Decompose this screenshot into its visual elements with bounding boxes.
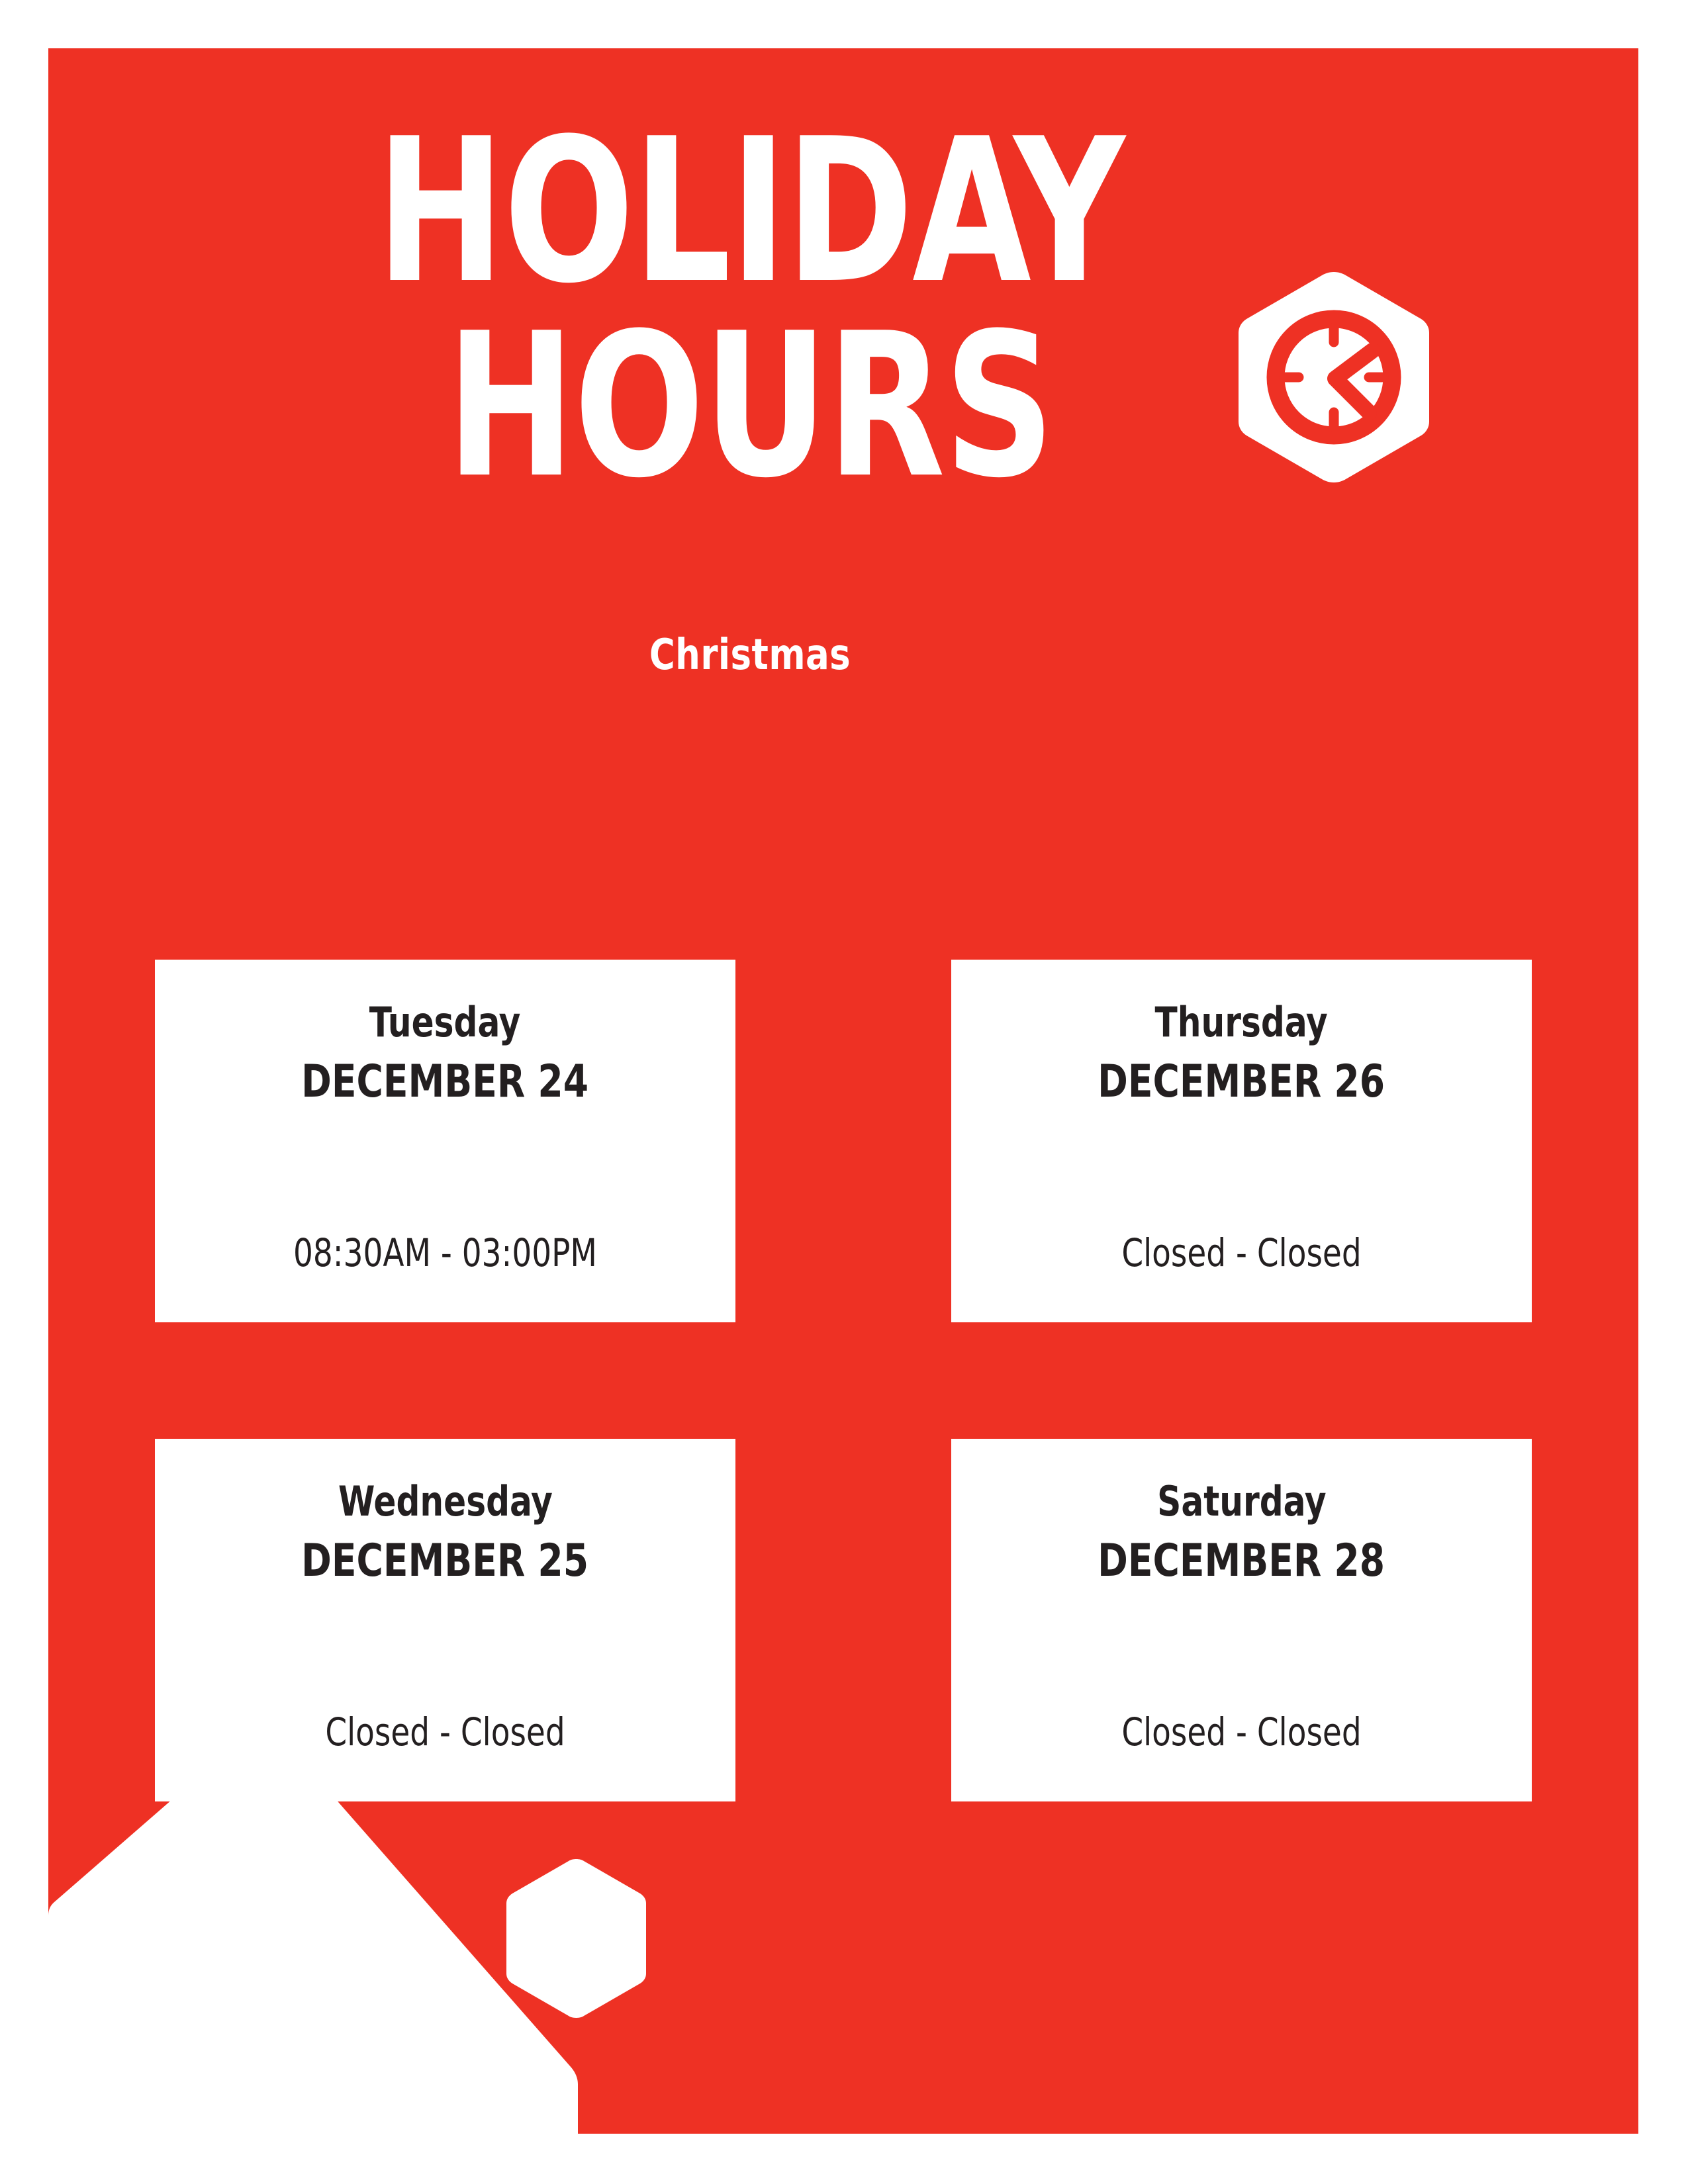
page-title-line-1: HOLIDAY — [306, 114, 1194, 309]
card-hours: 08:30AM - 03:00PM — [184, 1233, 706, 1273]
page-title-line-2: HOURS — [306, 309, 1194, 504]
poster-header: HOLIDAY HOURS Christmas — [48, 48, 1638, 631]
day-card[interactable]: Saturday DECEMBER 28 Closed - Closed — [951, 1439, 1532, 1801]
schedule-grid: Tuesday DECEMBER 24 08:30AM - 03:00PM Th… — [155, 960, 1532, 1669]
card-day-name: Thursday — [1155, 1001, 1328, 1044]
page-title: HOLIDAY HOURS — [306, 114, 1194, 504]
card-hours: Closed - Closed — [980, 1712, 1503, 1752]
day-card[interactable]: Tuesday DECEMBER 24 08:30AM - 03:00PM — [155, 960, 735, 1322]
hexagon-decoration — [505, 1856, 647, 2021]
card-date: DECEMBER 25 — [302, 1537, 589, 1584]
card-date: DECEMBER 24 — [302, 1058, 589, 1105]
card-day-name: Tuesday — [369, 1001, 521, 1044]
card-day-name: Wednesday — [338, 1480, 553, 1523]
poster-subtitle: Christmas — [275, 631, 1225, 680]
card-date: DECEMBER 26 — [1098, 1058, 1385, 1105]
card-hours: Closed - Closed — [980, 1233, 1503, 1273]
card-date: DECEMBER 28 — [1098, 1537, 1385, 1584]
card-day-name: Saturday — [1157, 1480, 1326, 1523]
day-card[interactable]: Thursday DECEMBER 26 Closed - Closed — [951, 960, 1532, 1322]
clock-icon — [1235, 268, 1433, 486]
holiday-hours-poster: HOLIDAY HOURS Christmas Tuesday — [48, 48, 1638, 2134]
